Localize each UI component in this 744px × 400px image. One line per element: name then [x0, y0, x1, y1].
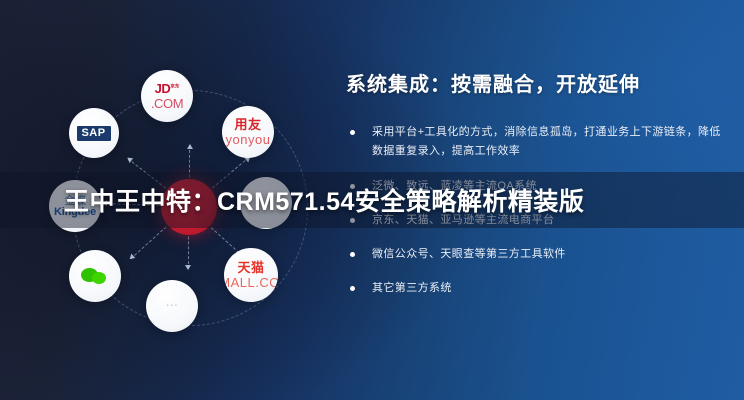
watermark-banner: 王中王中特：CRM571.54安全策略解析精装版: [0, 172, 744, 228]
bullet-item: 采用平台+工具化的方式，消除信息孤岛，打通业务上下游链条，降低数据重复录入，提高…: [346, 123, 728, 162]
yonyou-logo-sub: yonyou: [226, 133, 271, 146]
watermark-title: 王中王中特：CRM571.54安全策略解析精装版: [0, 182, 584, 218]
node-tmall[interactable]: 天猫 TMALL.COM: [224, 248, 278, 302]
tmall-logo-sub: TMALL.COM: [224, 276, 278, 289]
jd-logo-sub: .COM: [151, 97, 183, 110]
misc-system-logo: • • •: [167, 304, 178, 309]
sap-logo: SAP: [77, 126, 110, 141]
slide-screenshot: JD京东 .COM SAP 用友 yonyou 金蝶 Kingdee • • •…: [0, 0, 744, 400]
jd-logo: JD京东: [155, 82, 180, 95]
yonyou-logo: 用友: [234, 118, 261, 131]
node-sap[interactable]: SAP: [69, 108, 119, 158]
wechat-icon: [81, 266, 109, 286]
node-wechat[interactable]: [69, 250, 121, 302]
node-yonyou[interactable]: 用友 yonyou: [222, 106, 274, 158]
node-jd[interactable]: JD京东 .COM: [141, 70, 193, 122]
slide-headline: 系统集成：按需融合，开放延伸: [346, 68, 728, 97]
bullet-item: 其它第三方系统: [346, 279, 728, 298]
tmall-logo: 天猫: [237, 261, 264, 274]
bullet-item: 微信公众号、天眼查等第三方工具软件: [346, 245, 728, 264]
node-misc-system[interactable]: • • •: [146, 280, 198, 332]
